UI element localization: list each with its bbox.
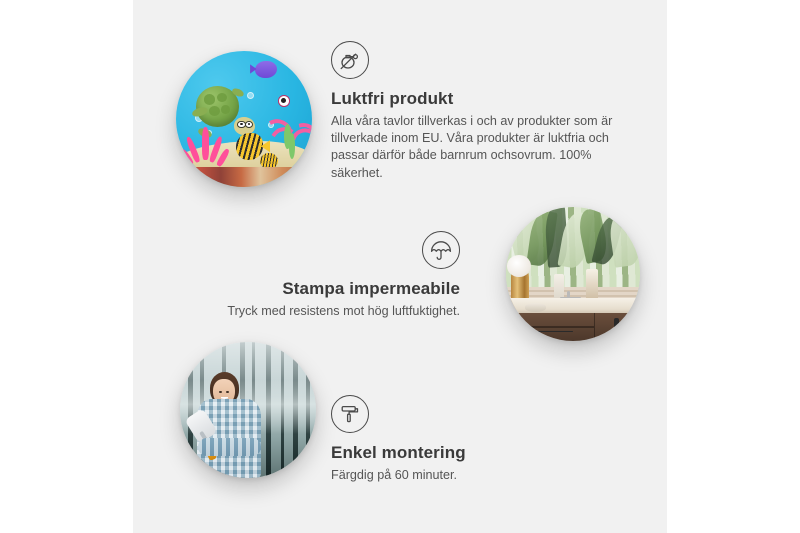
no-fragrance-icon (331, 41, 369, 79)
screenshot-stage: Luktfri produkt Alla våra tavlor tillver… (0, 0, 800, 533)
seaweed-icon (282, 124, 298, 165)
photo-underwater-scene (176, 51, 312, 187)
photo-forest-mural (180, 342, 316, 478)
feature-title: Luktfri produkt (331, 88, 631, 109)
person-with-roller (188, 372, 272, 478)
photo-bathroom-mural (506, 207, 640, 341)
bathroom-scene (506, 207, 640, 341)
feature-block-water: Stampa impermeabile Tryck med resistens … (160, 231, 460, 320)
feature-description: Färgdig på 60 minuter. (331, 467, 631, 484)
feature-title: Enkel montering (331, 442, 631, 463)
fish-striped-large (236, 133, 263, 160)
sea-bottom-strip (176, 167, 312, 187)
feature-block-odour: Luktfri produkt Alla våra tavlor tillver… (331, 41, 631, 182)
feature-description: Tryck med resistens mot hög luftfuktighe… (160, 303, 460, 320)
umbrella-icon (422, 231, 460, 269)
forest-scene (180, 342, 316, 478)
soap-dish (525, 303, 546, 311)
wooden-vanity (514, 313, 640, 341)
feature-description: Alla våra tavlor tillverkas i och av pro… (331, 113, 631, 182)
sea-background (176, 51, 312, 187)
feature-block-mount: Enkel montering Färgdig på 60 minuter. (331, 395, 631, 484)
coral-illustration (184, 124, 230, 170)
fish-purple (255, 61, 277, 79)
white-flower (507, 255, 531, 276)
feature-title: Stampa impermeabile (160, 278, 460, 299)
paint-roller-icon (331, 395, 369, 433)
